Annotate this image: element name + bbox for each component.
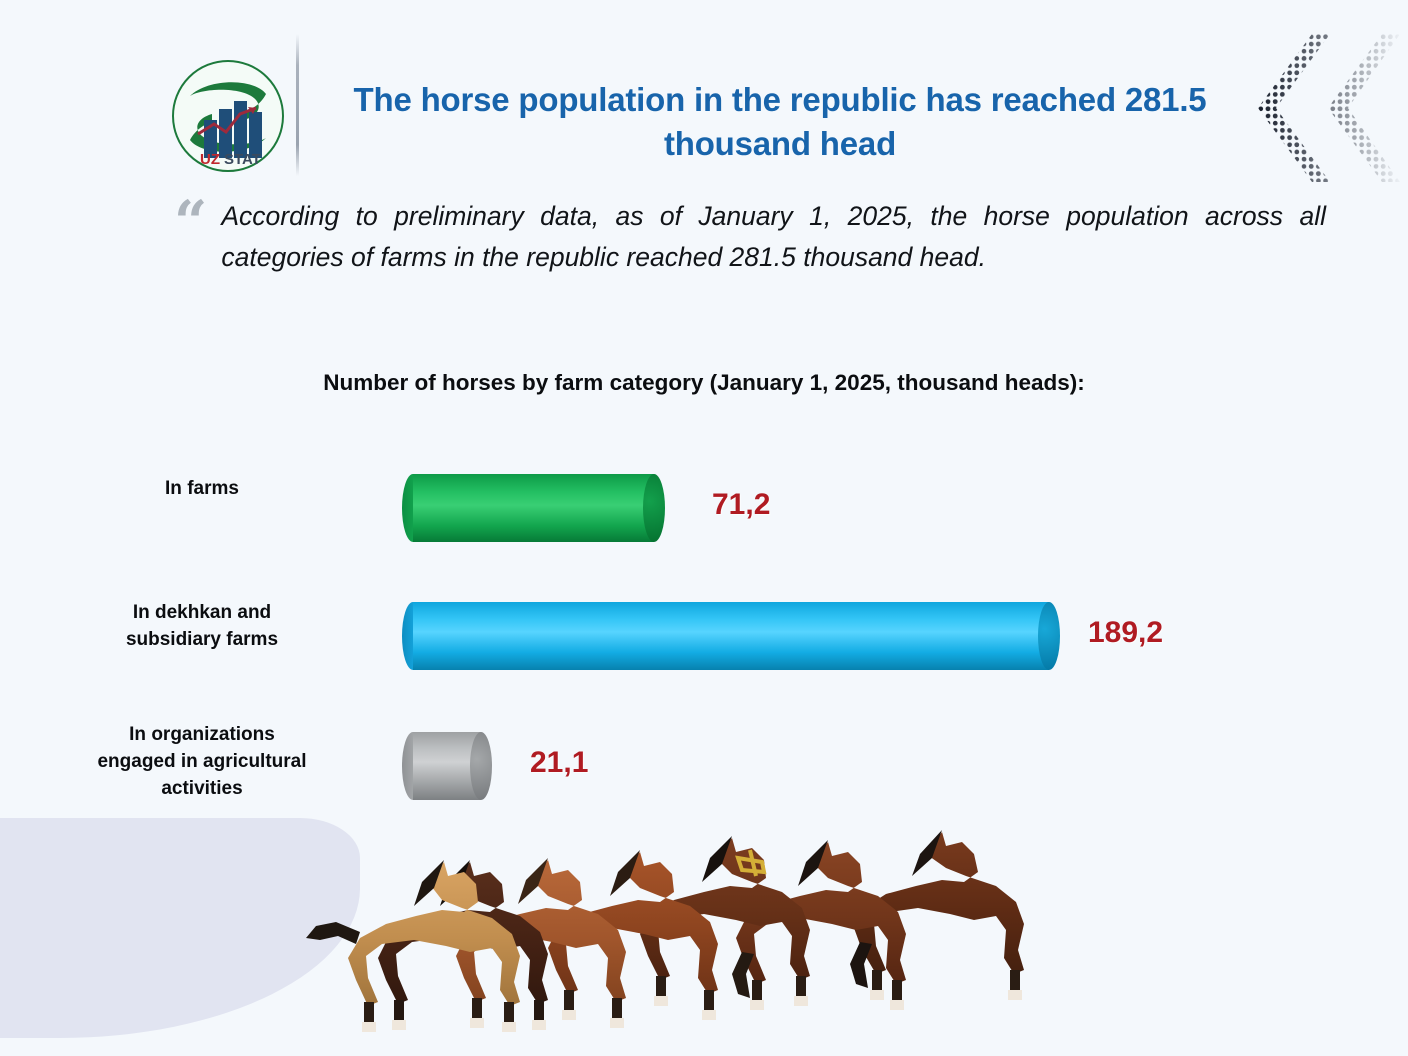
bar-label-line: activities: [52, 776, 352, 803]
quote-mark-icon: “: [174, 202, 207, 244]
header: UZ STAT The horse population in the repu…: [0, 0, 1408, 190]
page-title: The horse population in the republic has…: [310, 78, 1250, 166]
double-chevron-left-halftone-icon: [1250, 26, 1400, 190]
chart-row: In farms 71,2: [0, 448, 1408, 558]
intro-paragraph: “ According to preliminary data, as of J…: [122, 196, 1326, 278]
bar-value-farms: 71,2: [712, 488, 770, 522]
bar-label-line: engaged in agricultural: [52, 749, 352, 776]
bar-label-line: In organizations: [52, 722, 352, 749]
bar-label-line: In dekhkan and: [52, 600, 352, 627]
bar-cylinder-organizations: [402, 732, 492, 800]
bar-cylinder-dekhkan: [402, 602, 1060, 670]
title-divider: [296, 34, 299, 176]
intro-paragraph-text: According to preliminary data, as of Jan…: [122, 196, 1326, 278]
bar-label: In organizations engaged in agricultural…: [52, 722, 352, 803]
chart-row: In organizations engaged in agricultural…: [0, 710, 1408, 820]
bar-value-dekhkan: 189,2: [1088, 616, 1163, 650]
svg-text:UZ: UZ: [200, 151, 220, 168]
svg-text:STAT: STAT: [224, 151, 261, 168]
bar-track: [402, 732, 492, 800]
bar-label: In dekhkan and subsidiary farms: [52, 600, 352, 654]
chart-title: Number of horses by farm category (Janua…: [0, 370, 1408, 396]
bar-label-line: subsidiary farms: [52, 627, 352, 654]
bar-track: [402, 602, 1060, 670]
bar-label-line: In farms: [165, 478, 239, 499]
bar-track: [402, 474, 665, 542]
bar-label: In farms: [52, 476, 352, 503]
bar-cylinder-farms: [402, 474, 665, 542]
uzstat-logo-icon: UZ STAT: [170, 58, 286, 174]
chart-row: In dekhkan and subsidiary farms 189,2: [0, 576, 1408, 686]
bar-value-organizations: 21,1: [530, 746, 588, 780]
galloping-horses-photo: [286, 818, 1286, 1040]
horizontal-bar-chart: In farms 71,2 In dekhkan and subsidiary …: [0, 448, 1408, 818]
uzstat-logo: UZ STAT: [170, 58, 286, 174]
